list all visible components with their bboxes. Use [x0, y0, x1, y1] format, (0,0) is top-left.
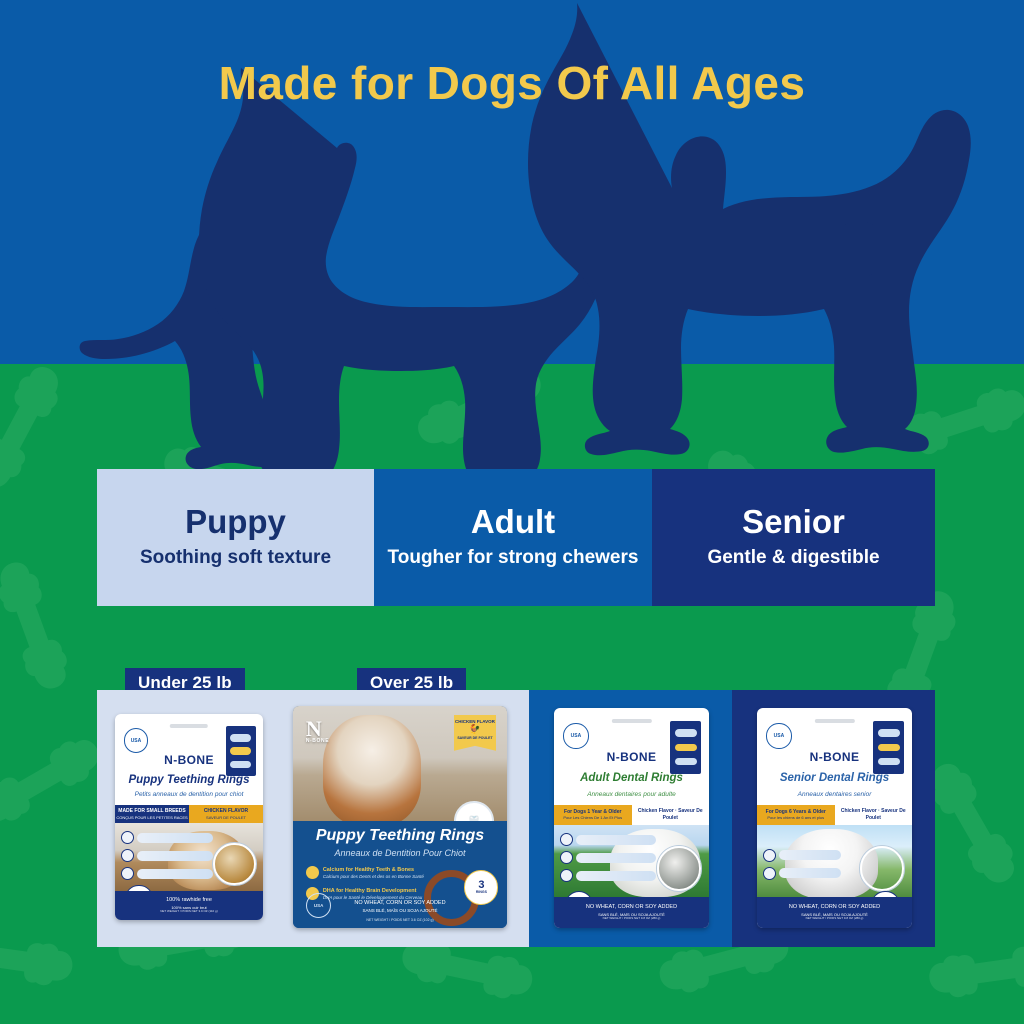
product-package-adult[interactable]: USA N-BONE Adult Dental Rings Anneaux de…	[554, 708, 709, 928]
net-weight-1: NET WEIGHT / POIDS NET 3.9 OZ (110 g)	[160, 910, 217, 914]
usa-seal-icon-4: USA	[766, 723, 791, 748]
usa-seal-icon: USA	[124, 728, 148, 752]
package-name-4: Senior Dental Rings	[757, 772, 912, 784]
package-brand-3: N-BONE	[554, 750, 709, 764]
package-name-fr-3: Anneaux dentaires pour adulte	[554, 791, 709, 798]
package-brand-1: N-BONE	[115, 753, 263, 767]
package-footer-3: NO WHEAT, CORN OR SOY ADDED SANS BLÉ, MA…	[554, 897, 709, 928]
package-name-2: Puppy Teething Rings	[293, 827, 507, 845]
package-footer-1: 100% rawhide free 100% sans cuir brut NE…	[115, 891, 263, 920]
net-weight-2: NET WEIGHT / POIDS NET 3.6 OZ (102 g)	[366, 918, 433, 922]
package-name-fr-1: Petits anneaux de dentition pour chiot	[115, 791, 263, 798]
footer-en-4: NO WHEAT, CORN OR SOY ADDED	[789, 904, 880, 911]
age-column-subtitle-senior: Gentle & digestible	[707, 547, 879, 569]
age-columns: Puppy Soothing soft texture Adult Toughe…	[97, 469, 935, 606]
ribbon-left-fr-3: Pour Les Chiens De 1 An Et Plus	[563, 815, 622, 820]
claim-icon-4a	[763, 849, 776, 862]
footer-fr-2: SANS BLÉ, MAÏS OU SOJA AJOUTÉ	[362, 908, 437, 913]
flavor-flag-2: CHICKEN FLAVOR 🐓 SAVEUR DE POULET	[454, 715, 497, 751]
product-pane-senior: USA N-BONE Senior Dental Rings Anneaux d…	[732, 690, 935, 947]
flavor-flag-fr-2: SAVEUR DE POULET	[457, 736, 492, 740]
claim-icon-1a	[121, 831, 134, 844]
age-column-puppy[interactable]: Puppy Soothing soft texture	[97, 469, 374, 606]
claim-icon-1c	[121, 867, 134, 880]
claim-icon-1b	[121, 849, 134, 862]
bullet-en-2a: Calcium for Healthy Teeth & Bones	[323, 867, 414, 873]
bone-bullet-icon	[306, 866, 319, 879]
net-weight-3: NET WEIGHT / POIDS NET 9.8 OZ (280 g)	[603, 917, 661, 921]
package-ribbon-1: MADE FOR SMALL BREEDS CONÇUS POUR LES PE…	[115, 805, 263, 824]
bone-badge-icon	[226, 726, 256, 775]
product-package-senior[interactable]: USA N-BONE Senior Dental Rings Anneaux d…	[757, 708, 912, 928]
package-claims-4	[763, 849, 841, 885]
age-column-subtitle-adult: Tougher for strong chewers	[388, 547, 639, 569]
bullet-en-2b: DHA for Healthy Brain Development	[323, 888, 417, 894]
claim-icon-3a	[560, 833, 573, 846]
page-title: Made for Dogs Of All Ages	[0, 56, 1024, 110]
package-name-fr-4: Anneaux dentaires senior	[757, 791, 912, 798]
usa-seal-icon-3: USA	[563, 723, 588, 748]
bone-badge-icon-3	[670, 721, 701, 773]
bag-notch-icon-4	[814, 719, 854, 723]
package-ribbon-3: For Dogs 1 Year & Older Pour Les Chiens …	[554, 805, 709, 825]
product-package-puppy-small[interactable]: USA N-BONE Puppy Teething Rings Petits a…	[115, 714, 263, 920]
package-footer-4: NO WHEAT, CORN OR SOY ADDED SANS BLÉ, MA…	[757, 897, 912, 928]
ribbon-right-fr-1: SAVEUR DE POULET	[206, 815, 246, 820]
package-lower-2: Puppy Teething Rings Anneaux de Dentitio…	[293, 821, 507, 928]
age-column-title-puppy: Puppy	[185, 505, 286, 538]
chicken-icon: 🐓	[455, 725, 496, 735]
package-brand-4: N-BONE	[757, 750, 912, 764]
product-window-3	[657, 846, 701, 890]
bone-badge-icon-4	[873, 721, 904, 773]
package-claims-1	[121, 831, 213, 885]
ribbon-right-4: Chicken Flavor · Saveur De Poulet	[835, 808, 913, 821]
product-package-puppy-large[interactable]: N N-BONE CHICKEN FLAVOR 🐓 SAVEUR DE POUL…	[293, 706, 507, 928]
package-ribbon-4: For Dogs 6 Years & Older Pour les chiens…	[757, 805, 912, 825]
bag-notch-icon	[170, 724, 208, 728]
footer-en-1: 100% rawhide free	[166, 897, 212, 904]
bullet-fr-2a: Calcium pour des Dents et des os en Bonn…	[323, 874, 424, 881]
age-column-senior[interactable]: Senior Gentle & digestible	[652, 469, 935, 606]
footer-en-2: NO WHEAT, CORN OR SOY ADDED	[354, 900, 445, 906]
package-name-3: Adult Dental Rings	[554, 772, 709, 784]
net-weight-4: NET WEIGHT / POIDS NET 9.8 OZ (280 g)	[806, 917, 864, 921]
ribbon-left-fr-1: CONÇUS POUR LES PETITES RACES	[116, 815, 187, 820]
product-pane-adult: USA N-BONE Adult Dental Rings Anneaux de…	[529, 690, 732, 947]
age-column-subtitle-puppy: Soothing soft texture	[140, 547, 331, 569]
product-window-4	[860, 846, 904, 890]
footer-en-3: NO WHEAT, CORN OR SOY ADDED	[586, 904, 677, 911]
age-column-title-adult: Adult	[471, 505, 555, 538]
age-column-adult[interactable]: Adult Tougher for strong chewers	[374, 469, 652, 606]
claim-icon-3b	[560, 851, 573, 864]
product-pane-puppy: USA N-BONE Puppy Teething Rings Petits a…	[97, 690, 529, 947]
claim-icon-4b	[763, 867, 776, 880]
package-name-1: Puppy Teething Rings	[115, 774, 263, 786]
age-column-title-senior: Senior	[742, 505, 845, 538]
ribbon-left-fr-4: Pour les chiens de 6 ans et plus	[767, 815, 824, 820]
package-name-fr-2: Anneaux de Dentition Pour Chiot	[293, 848, 507, 858]
package-claims-3	[560, 833, 656, 887]
package-footer-2: NO WHEAT, CORN OR SOY ADDED SANS BLÉ, MA…	[293, 899, 507, 924]
ribbon-right-3: Chicken Flavor · Saveur De Poulet	[632, 808, 710, 821]
bag-notch-icon-3	[611, 719, 651, 723]
product-window-1	[213, 843, 255, 885]
claim-icon-3c	[560, 869, 573, 882]
bulldog-puppy-photo	[323, 715, 421, 821]
product-strip: USA N-BONE Puppy Teething Rings Petits a…	[97, 690, 935, 947]
package-brand-2: N N-BONE	[306, 719, 329, 743]
poster-root: Made for Dogs Of All Ages Puppy Soothing…	[0, 0, 1024, 1024]
